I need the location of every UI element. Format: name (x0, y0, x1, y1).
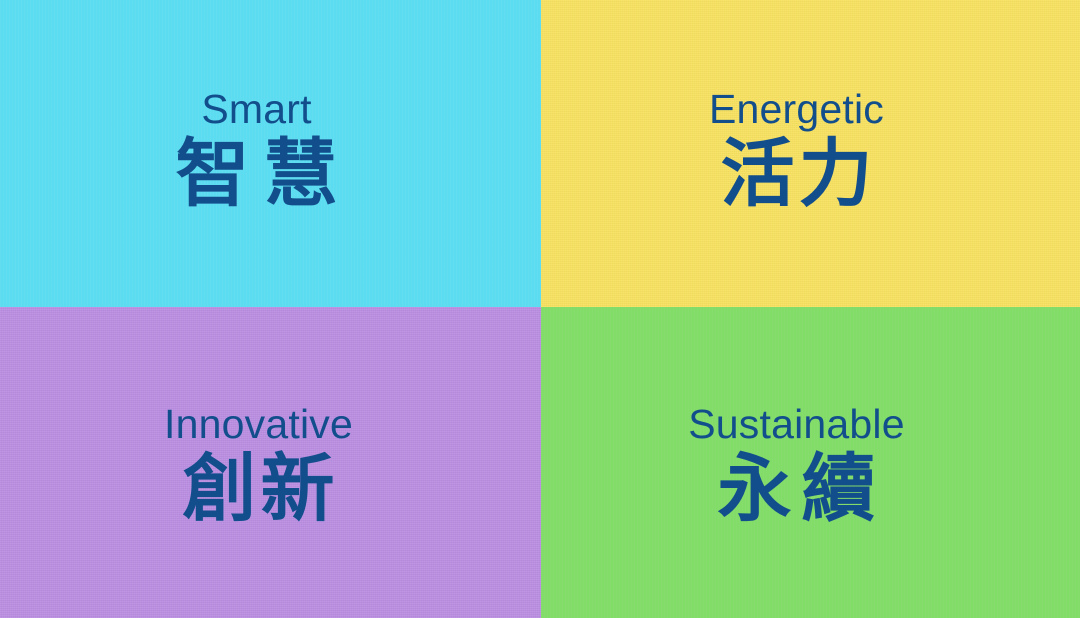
panel-energetic-label-en: Energetic (709, 88, 884, 131)
panel-energetic[interactable]: Energetic 活力 (541, 0, 1080, 307)
quadrant-grid: Smart 智慧 Energetic 活力 Innovative 創新 Sust… (0, 0, 1080, 618)
panel-sustainable-label-en: Sustainable (688, 403, 904, 446)
panel-innovative[interactable]: Innovative 創新 (0, 307, 541, 618)
panel-smart-label-en: Smart (162, 88, 352, 131)
panel-smart-label-zh: 智慧 (162, 133, 352, 216)
panel-innovative-label-en: Innovative (164, 403, 353, 446)
brand-values-board: Smart 智慧 Energetic 活力 Innovative 創新 Sust… (0, 0, 1080, 618)
panel-sustainable-label-zh: 永續 (688, 448, 904, 531)
panel-smart-text: Smart 智慧 (162, 88, 352, 216)
panel-energetic-label-zh: 活力 (709, 133, 884, 216)
panel-sustainable-text: Sustainable 永續 (688, 403, 904, 531)
panel-sustainable[interactable]: Sustainable 永續 (541, 307, 1080, 618)
panel-innovative-label-zh: 創新 (164, 448, 353, 531)
panel-energetic-text: Energetic 活力 (709, 88, 884, 216)
panel-innovative-text: Innovative 創新 (164, 403, 353, 531)
panel-smart[interactable]: Smart 智慧 (0, 0, 541, 307)
